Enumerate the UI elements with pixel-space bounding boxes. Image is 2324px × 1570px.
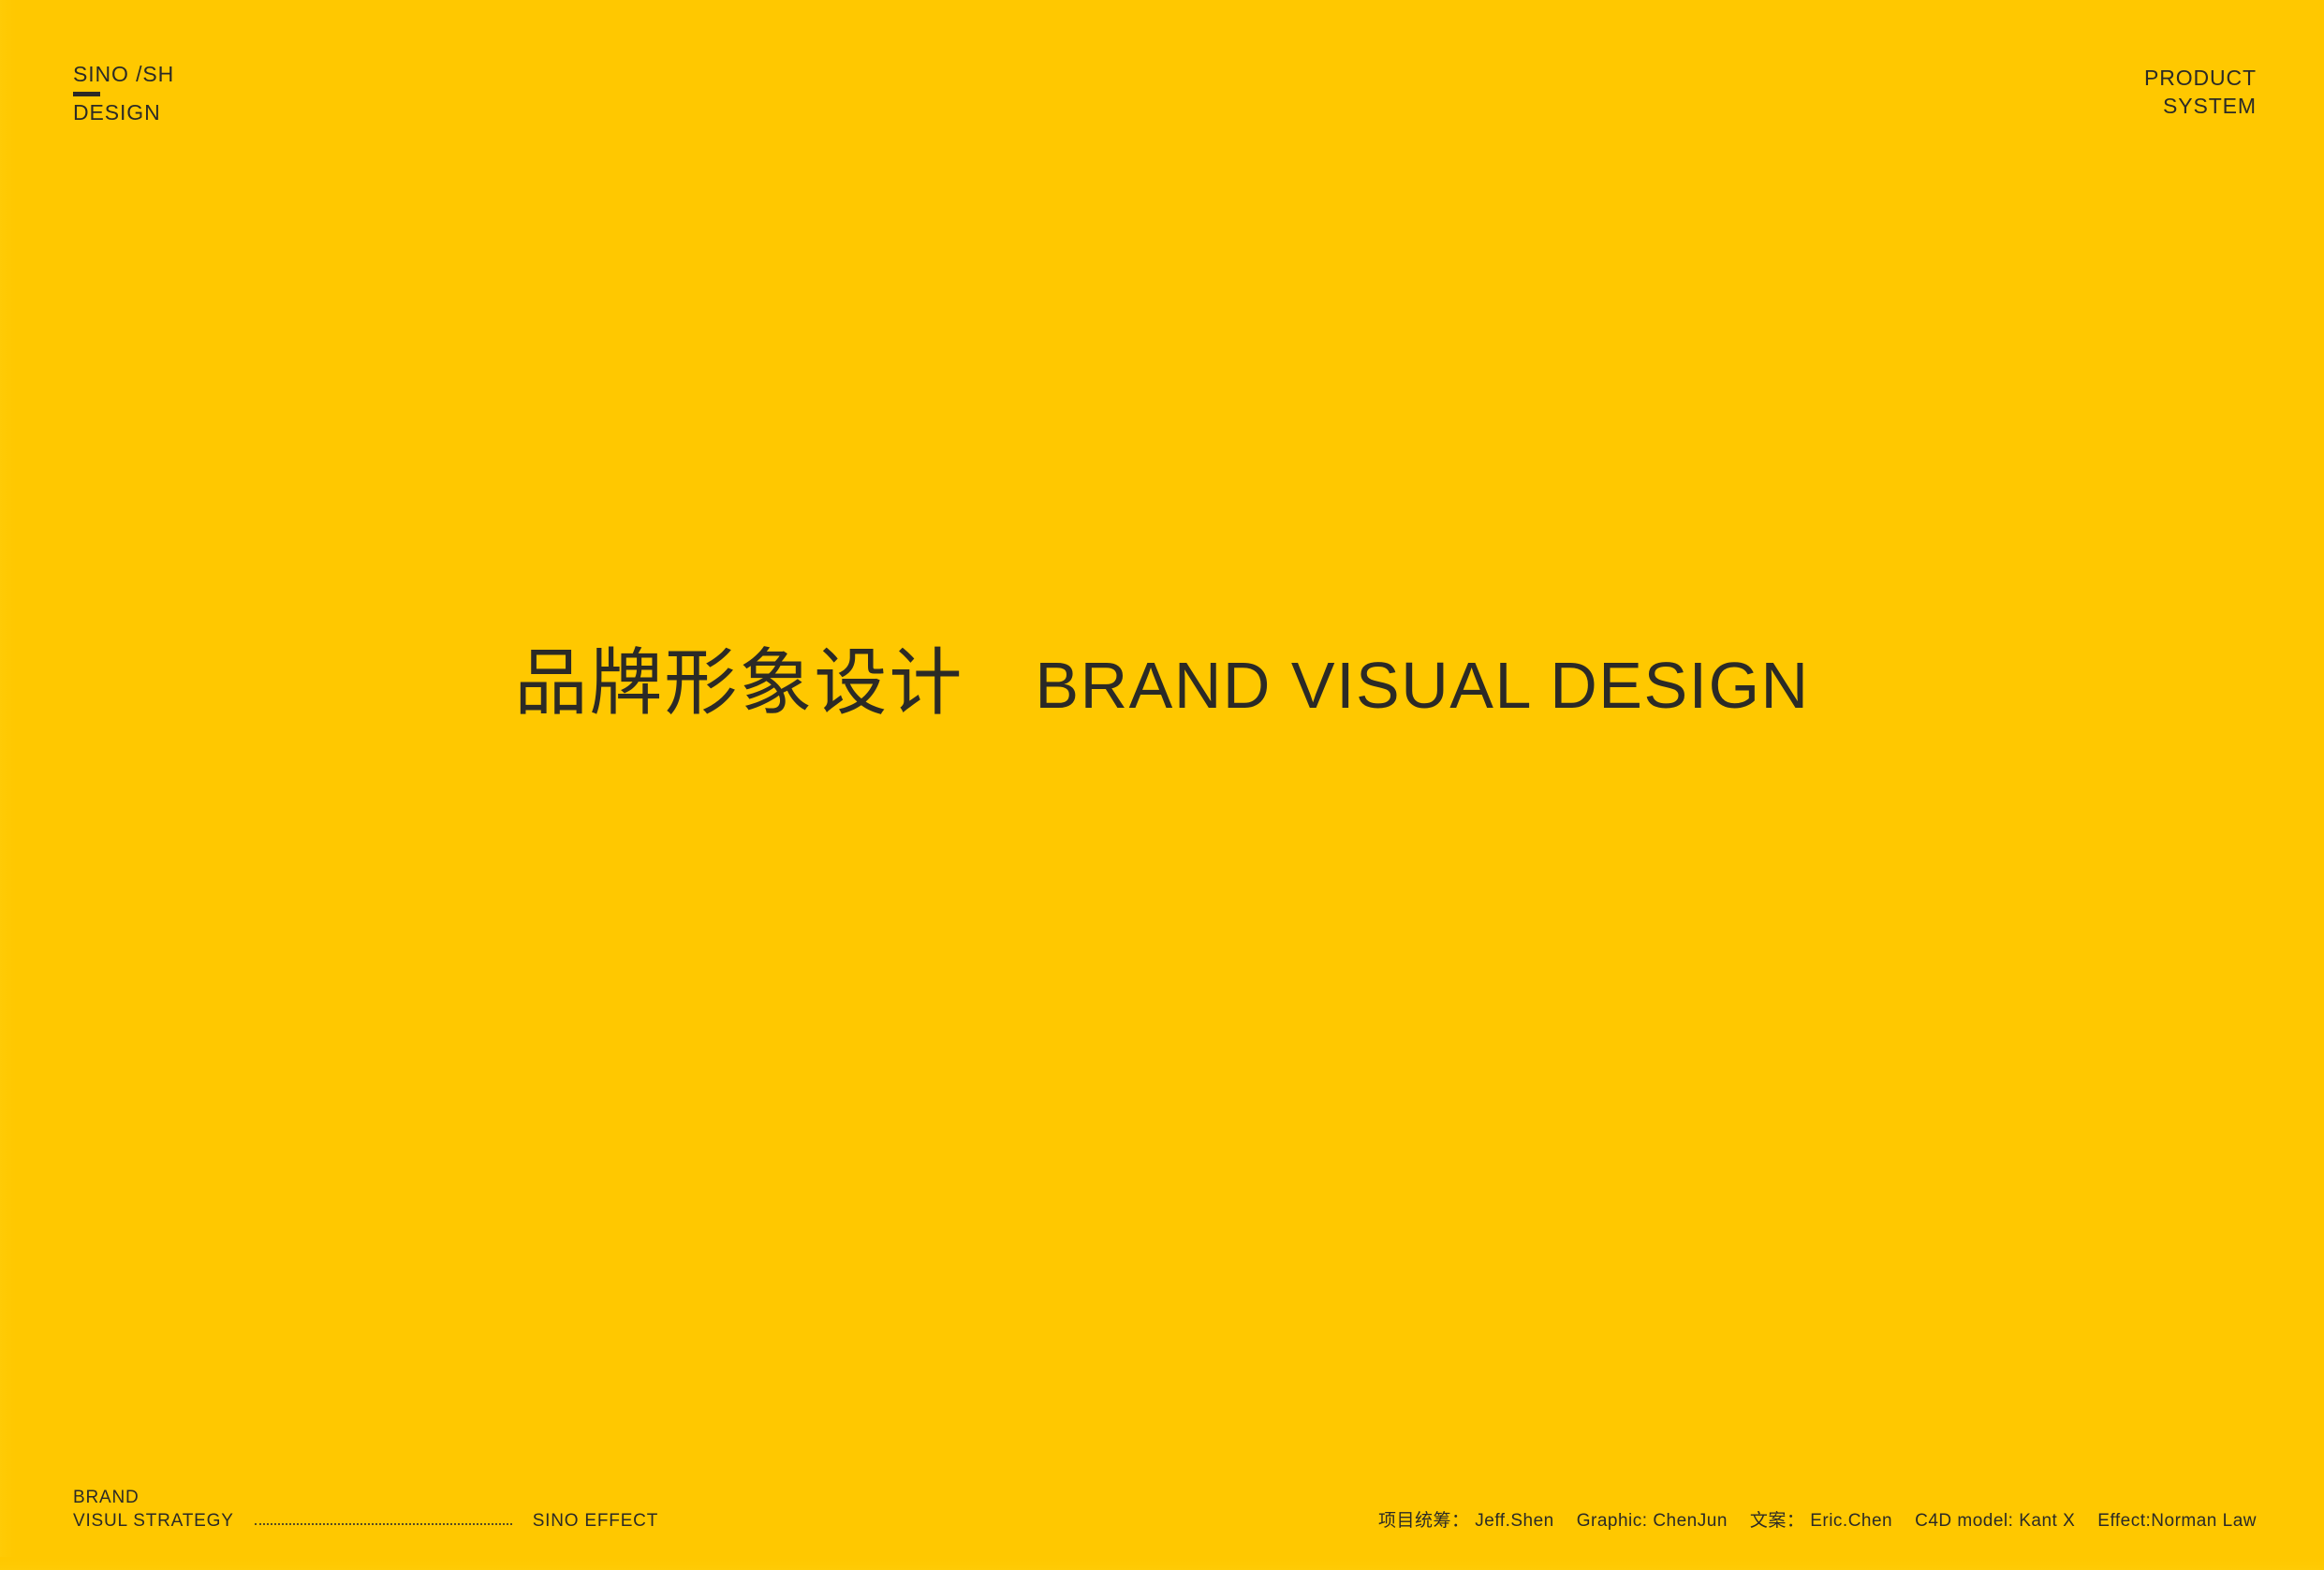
footer-label-sino-effect: SINO EFFECT — [533, 1511, 658, 1532]
left-edge-gradient — [0, 0, 19, 1570]
credit-name: ChenJun — [1653, 1511, 1728, 1531]
header-label-product: PRODUCT — [2144, 64, 2257, 92]
credit-name: Eric.Chen — [1810, 1511, 1892, 1531]
page-title-chinese: 品牌形象设计 — [514, 646, 963, 719]
header-right-label: PRODUCT SYSTEM — [2144, 64, 2257, 121]
page-title: 品牌形象设计 BRAND VISUAL DESIGN — [0, 646, 2324, 719]
credit-role: Effect: — [2097, 1511, 2151, 1531]
logo-line-sino-sh: SINO /SH — [73, 64, 174, 85]
credit-role: Graphic: — [1577, 1511, 1648, 1531]
logo-divider-rule — [73, 92, 100, 96]
bottom-edge-gradient — [0, 1557, 2324, 1570]
brand-logo: SINO /SH DESIGN — [73, 64, 174, 124]
credit-name: Norman Law — [2151, 1511, 2257, 1531]
credit-item: C4D model: Kant X — [1915, 1511, 2075, 1531]
footer-dotted-rule — [255, 1523, 512, 1526]
credit-name: Kant X — [2019, 1511, 2075, 1531]
footer-label-visul-strategy: VISUL STRATEGY — [73, 1510, 234, 1533]
credit-name: Jeff.Shen — [1475, 1511, 1553, 1531]
credit-role: 文案： — [1750, 1511, 1805, 1531]
credit-item: 文案： Eric.Chen — [1750, 1511, 1892, 1531]
presentation-slide: SINO /SH DESIGN PRODUCT SYSTEM 品牌形象设计 BR… — [0, 0, 2324, 1570]
logo-line-design: DESIGN — [73, 102, 174, 124]
footer-credits: 项目统筹： Jeff.ShenGraphic: ChenJun文案： Eric.… — [1378, 1506, 2257, 1532]
credit-item: Graphic: ChenJun — [1577, 1511, 1728, 1531]
page-title-english: BRAND VISUAL DESIGN — [1035, 653, 1809, 718]
credit-role: 项目统筹： — [1378, 1511, 1470, 1531]
credit-item: Effect:Norman Law — [2097, 1511, 2257, 1531]
credit-item: 项目统筹： Jeff.Shen — [1378, 1511, 1554, 1531]
footer-label-brand: BRAND — [73, 1487, 234, 1509]
credit-role: C4D model: — [1915, 1511, 2013, 1531]
footer-strategy-label: BRAND VISUL STRATEGY — [73, 1487, 234, 1533]
header-label-system: SYSTEM — [2144, 92, 2257, 120]
footer-left-group: BRAND VISUL STRATEGY SINO EFFECT — [73, 1487, 658, 1533]
